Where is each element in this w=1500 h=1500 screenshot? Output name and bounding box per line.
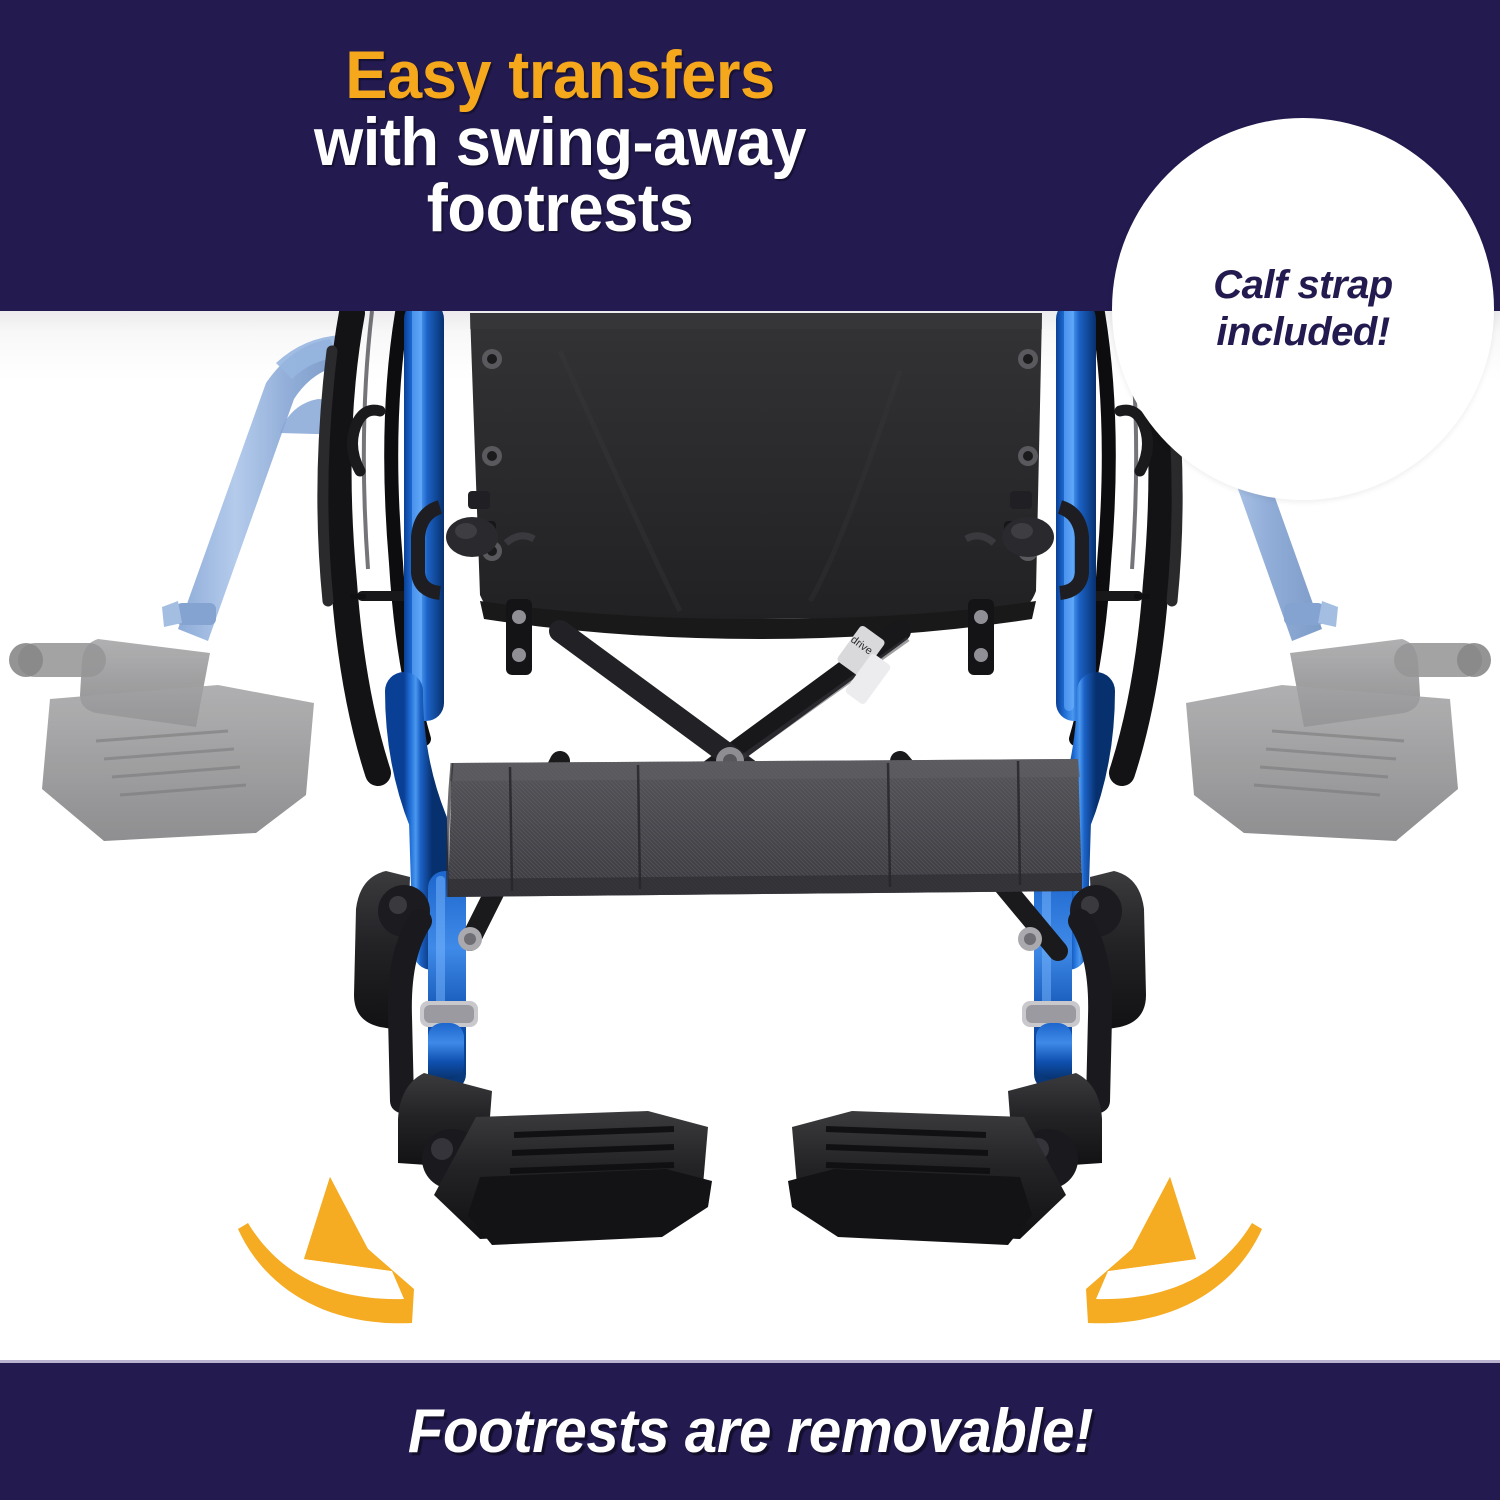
calf-strap-badge: Calf strap included! <box>1112 118 1494 500</box>
ghost-footrest-left <box>9 335 350 841</box>
badge-line-1: Calf strap <box>1213 262 1393 309</box>
calf-strap <box>448 759 1083 897</box>
headline-line-3: footrests <box>39 175 1081 242</box>
headline-block: Easy transfers with swing-away footrests <box>0 42 1120 242</box>
bottom-banner: Footrests are removable! <box>0 1363 1500 1500</box>
swing-away-arrow-left <box>238 1177 414 1323</box>
headline-line-2: with swing-away <box>39 109 1081 176</box>
headline-line-1: Easy transfers <box>39 42 1081 109</box>
product-feature-graphic: Easy transfers with swing-away footrests… <box>0 0 1500 1500</box>
swing-away-arrow-group <box>0 1151 1500 1341</box>
badge-line-2: included! <box>1216 309 1389 356</box>
bottom-banner-text: Footrests are removable! <box>407 1396 1092 1467</box>
swing-away-arrow-right <box>1086 1177 1262 1323</box>
seat-upholstery <box>470 313 1042 639</box>
